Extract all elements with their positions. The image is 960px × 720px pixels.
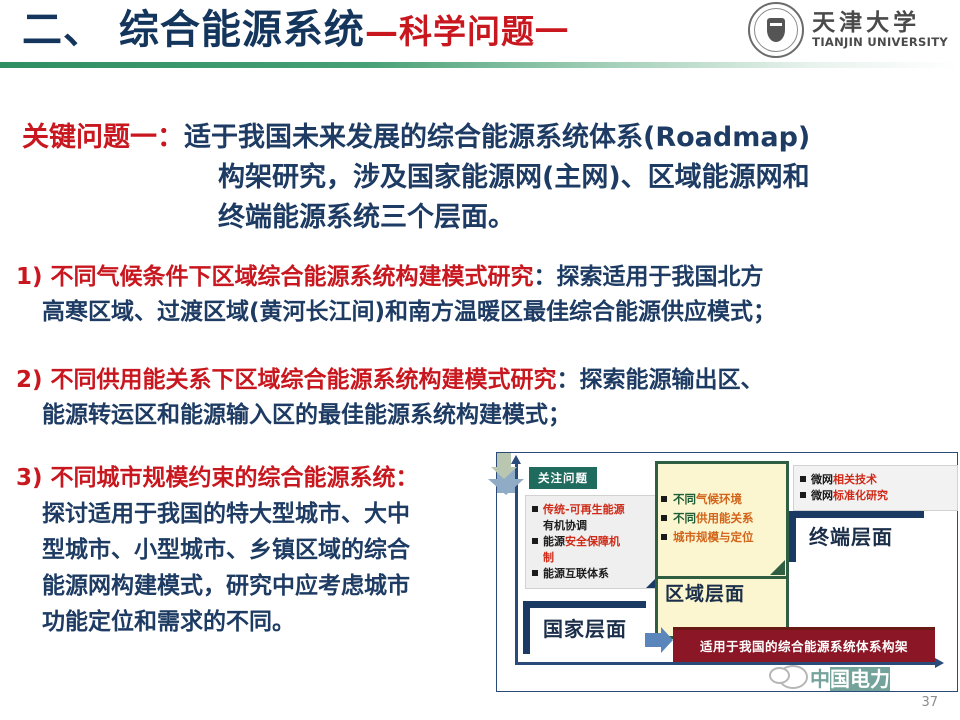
item-1-headline: 不同气候条件下区域综合能源系统构建模式研究 [51, 264, 534, 290]
item-1-line-2: 高寒区域、过渡区域(黄河长江间)和南方温暖区最佳综合能源供应模式； [16, 295, 956, 330]
left-note-3a: 能源互联体系 [543, 567, 609, 580]
mid-note-1-suffix: 气候环境 [696, 492, 742, 506]
watermark-highlight: 国电力 [830, 667, 890, 691]
national-layer-notes: 传统-可再生能源 有机协调 能源安全保障机 制 能源互联体系 [525, 495, 662, 589]
page-number: 37 [921, 695, 938, 710]
item-3-body-line-2: 型城市、小型城市、乡镇区域的综合 [16, 532, 486, 568]
bullet-icon [661, 534, 667, 540]
page-title: 二、 综合能源系统—科学问题一 [22, 4, 569, 58]
university-logo: 天津大学 TIANJIN UNIVERSITY [748, 2, 948, 58]
key-question-line-2: 构架研究，涉及国家能源网(主网)、区域能源网和 [22, 158, 942, 198]
regional-layer-notes: 不同气候环境 不同供用能关系 城市规模与定位 [661, 490, 785, 547]
regional-layer-label: 区域层面 [665, 579, 745, 606]
university-seal-icon [748, 2, 804, 58]
mid-note-row: 城市规模与定位 [661, 528, 785, 547]
left-note-2a2: 安全保障机 [565, 535, 620, 548]
mid-corner-fold-icon [770, 560, 785, 575]
list-item: 3) 不同城市规模约束的综合能源系统： 探讨适用于我国的特大型城市、大中 型城市… [16, 460, 486, 640]
result-banner: 适用于我国的综合能源系统体系构架 [673, 627, 935, 662]
item-1-tail: ：探索适用于我国北方 [534, 264, 764, 290]
right-note-1-prefix: 微网 [811, 473, 833, 486]
key-question-line-1: 关键问题一：适于我国未来发展的综合能源系统体系(Roadmap) [22, 118, 942, 158]
item-2-number: 2) [16, 367, 43, 393]
item-1-line-1: 1) 不同气候条件下区域综合能源系统构建模式研究：探索适用于我国北方 [16, 260, 956, 295]
regional-layer-panel: 不同气候环境 不同供用能关系 城市规模与定位 [655, 461, 789, 639]
list-item: 2) 不同供用能关系下区域综合能源系统构建模式研究：探索能源输出区、 能源转运区… [16, 363, 956, 433]
item-2-line-2: 能源转运区和能源输入区的最佳能源系统构建模式； [16, 398, 956, 433]
key-question-text-1: 适于我国未来发展的综合能源系统体系(Roadmap) [184, 122, 810, 153]
three-layer-framework-diagram: 关注问题 传统-可再生能源 有机协调 能源安全保障机 制 能源互联体系 不同气候… [496, 452, 958, 692]
header-divider [0, 62, 960, 68]
region-down-arrow-icon [497, 453, 511, 467]
page-title-main: 二、 综合能源系统 [22, 7, 365, 53]
university-name-en: TIANJIN UNIVERSITY [812, 37, 948, 49]
list-item: 1) 不同气候条件下区域综合能源系统构建模式研究：探索适用于我国北方 高寒区域、… [16, 260, 956, 330]
item-3-line-1: 3) 不同城市规模约束的综合能源系统： [16, 460, 486, 496]
item-2-line-1: 2) 不同供用能关系下区域综合能源系统构建模式研究：探索能源输出区、 [16, 363, 956, 398]
left-note-1a: 传统-可再生能源 [543, 503, 625, 516]
university-name-cn: 天津大学 [812, 11, 948, 34]
left-note-1b: 有机协调 [543, 519, 587, 532]
item-3-body-line-1: 探讨适用于我国的特大型城市、大中 [16, 496, 486, 532]
national-right-arrow-icon [645, 633, 661, 647]
right-note-row: 微网相关技术 [800, 472, 950, 488]
mid-note-1-prefix: 不同 [673, 492, 696, 506]
item-3-colon: ： [396, 465, 419, 491]
bullet-icon [800, 476, 806, 482]
bullet-icon [532, 570, 538, 576]
mid-note-row: 不同供用能关系 [661, 509, 785, 528]
left-note-2b: 制 [543, 551, 554, 564]
left-note-row: 传统-可再生能源 [532, 502, 654, 518]
bullet-icon [532, 506, 538, 512]
item-3-number: 3) [16, 465, 43, 491]
bullet-icon [532, 538, 538, 544]
page-title-sub: —科学问题一 [365, 12, 569, 51]
item-2-headline: 不同供用能关系下区域综合能源系统构建模式研究 [51, 367, 557, 393]
left-note-2a: 能源 [543, 535, 565, 548]
key-question-lead: 关键问题一： [22, 122, 184, 153]
terminal-layer-notes: 微网相关技术 微网标准化研究 [793, 465, 958, 511]
watermark: 中国电力 [778, 662, 950, 692]
mid-note-2-suffix: 供用能关系 [696, 511, 754, 525]
focus-question-tag: 关注问题 [529, 467, 597, 489]
left-note-row-cont: 有机协调 [532, 518, 654, 534]
bullet-icon [661, 515, 667, 521]
watermark-text: 中国电力 [810, 663, 890, 692]
right-note-1-suffix: 相关技术 [833, 473, 877, 486]
right-note-2-suffix: 标准化研究 [833, 489, 888, 502]
wechat-icon [778, 665, 808, 689]
left-note-row-cont: 制 [532, 550, 654, 566]
right-note-row: 微网标准化研究 [800, 488, 950, 504]
slide-header: 二、 综合能源系统—科学问题一 天津大学 TIANJIN UNIVERSITY [0, 0, 960, 62]
university-logo-text: 天津大学 TIANJIN UNIVERSITY [812, 11, 948, 49]
item-1-number: 1) [16, 264, 43, 290]
terminal-layer-label: 终端层面 [809, 521, 893, 550]
key-question-line-3: 终端能源系统三个层面。 [22, 198, 942, 238]
key-question-block: 关键问题一：适于我国未来发展的综合能源系统体系(Roadmap) 构架研究，涉及… [22, 118, 942, 238]
right-note-2-prefix: 微网 [811, 489, 833, 502]
left-note-row: 能源安全保障机 [532, 534, 654, 550]
national-layer-label: 国家层面 [543, 613, 627, 642]
watermark-prefix: 中 [810, 667, 830, 691]
left-note-row: 能源互联体系 [532, 566, 654, 582]
item-3-headline: 不同城市规模约束的综合能源系统 [51, 465, 396, 491]
mid-note-3-prefix: 城市 [673, 530, 696, 544]
mid-note-row: 不同气候环境 [661, 490, 785, 509]
mid-note-2-prefix: 不同 [673, 511, 696, 525]
item-2-tail: ：探索能源输出区、 [557, 367, 764, 393]
bullet-icon [800, 492, 806, 498]
item-3-body-line-3: 能源网构建模式，研究中应考虑城市 [16, 568, 486, 604]
mid-note-3-suffix: 规模与定位 [696, 530, 754, 544]
bullet-icon [661, 496, 667, 502]
shield-icon [767, 18, 785, 42]
item-3-body-line-4: 功能定位和需求的不同。 [16, 604, 486, 640]
